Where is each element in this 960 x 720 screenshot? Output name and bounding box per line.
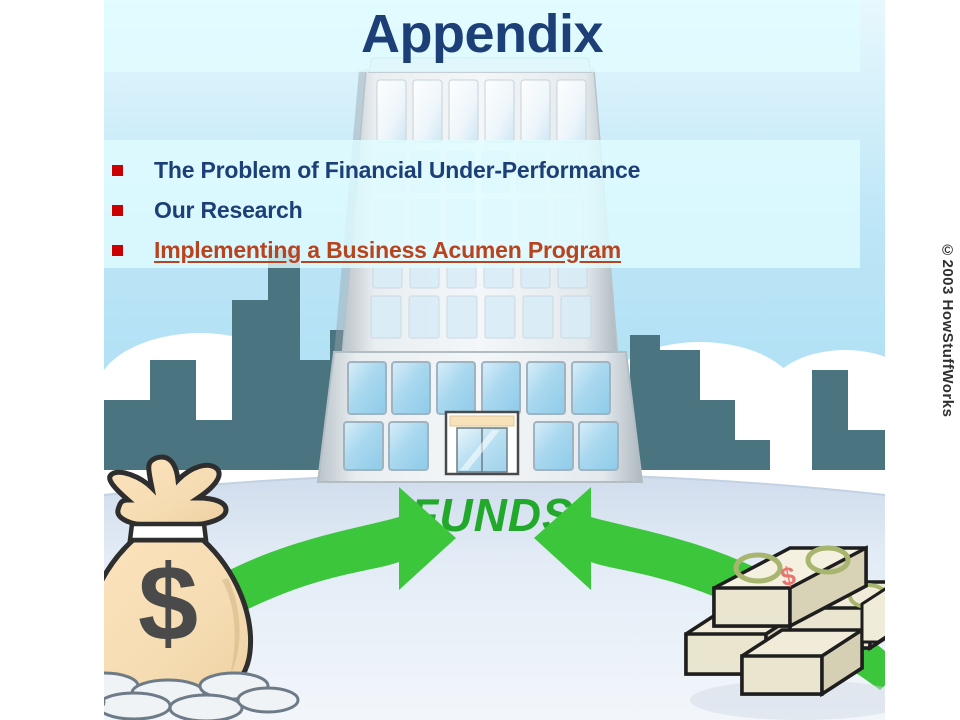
background-illustration: FUNDS $: [0, 0, 960, 720]
coins-pile: [48, 673, 298, 720]
red-square-bullet-icon: [112, 205, 123, 216]
copyright-notice: ©2003 HowStuffWorks: [939, 242, 956, 417]
svg-text:$: $: [138, 542, 198, 663]
list-item[interactable]: Implementing a Business Acumen Program: [112, 230, 872, 270]
tower-entrance: [446, 412, 518, 474]
list-item: The Problem of Financial Under-Performan…: [112, 150, 872, 190]
illustration-canvas: FUNDS $: [48, 0, 925, 720]
office-tower: [318, 58, 642, 482]
red-square-bullet-icon: [112, 165, 123, 176]
bullet-label-research: Our Research: [154, 197, 302, 224]
bullet-link-implementing[interactable]: Implementing a Business Acumen Program: [154, 237, 621, 264]
bullet-label-problem: The Problem of Financial Under-Performan…: [154, 157, 640, 184]
agenda-bullet-list: The Problem of Financial Under-Performan…: [112, 150, 872, 270]
slide-title: Appendix: [104, 2, 860, 66]
slide: FUNDS $: [0, 0, 960, 720]
list-item: Our Research: [112, 190, 872, 230]
red-square-bullet-icon: [112, 245, 123, 256]
